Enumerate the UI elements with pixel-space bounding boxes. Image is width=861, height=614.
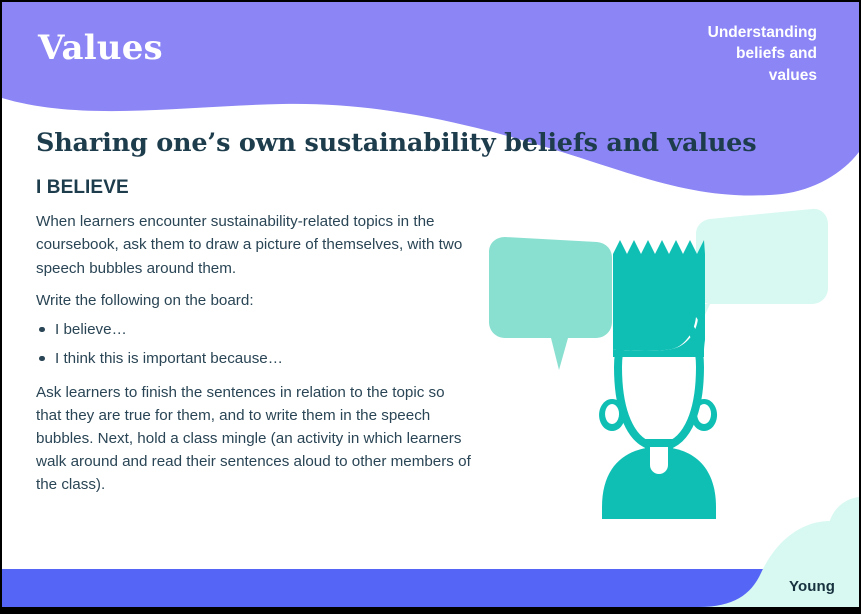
page-title: Values <box>38 30 163 67</box>
board-prompt-list: I believe… I think this is important bec… <box>36 318 486 370</box>
slide: Values Understanding beliefs and values … <box>0 0 861 614</box>
brand-logo: Young <box>789 578 835 595</box>
list-item: I think this is important because… <box>36 347 486 370</box>
corner-accent-shape <box>828 497 859 552</box>
footer-bar <box>2 569 859 607</box>
slide-canvas: Values Understanding beliefs and values … <box>2 2 859 607</box>
header-subtitle-line-2: beliefs and <box>597 43 817 64</box>
header-subtitle: Understanding beliefs and values <box>597 22 817 86</box>
list-item: I believe… <box>36 318 486 341</box>
header-subtitle-line-3: values <box>597 65 817 86</box>
main-heading: Sharing one’s own sustainability beliefs… <box>36 128 486 159</box>
body-paragraph-3: Ask learners to finish the sentences in … <box>36 381 473 496</box>
person-icon <box>599 240 717 519</box>
illustration-person-with-speech-bubbles <box>472 207 859 552</box>
speech-bubble-right-icon <box>694 209 828 339</box>
body-paragraph-2: Write the following on the board: <box>36 289 473 312</box>
body-paragraph-1: When learners encounter sustainability-r… <box>36 210 473 279</box>
content-column: Sharing one’s own sustainability beliefs… <box>36 128 486 496</box>
speech-bubble-left-icon <box>489 237 612 370</box>
header-subtitle-line-1: Understanding <box>597 22 817 43</box>
activity-sub-heading: I BELIEVE <box>36 177 486 200</box>
